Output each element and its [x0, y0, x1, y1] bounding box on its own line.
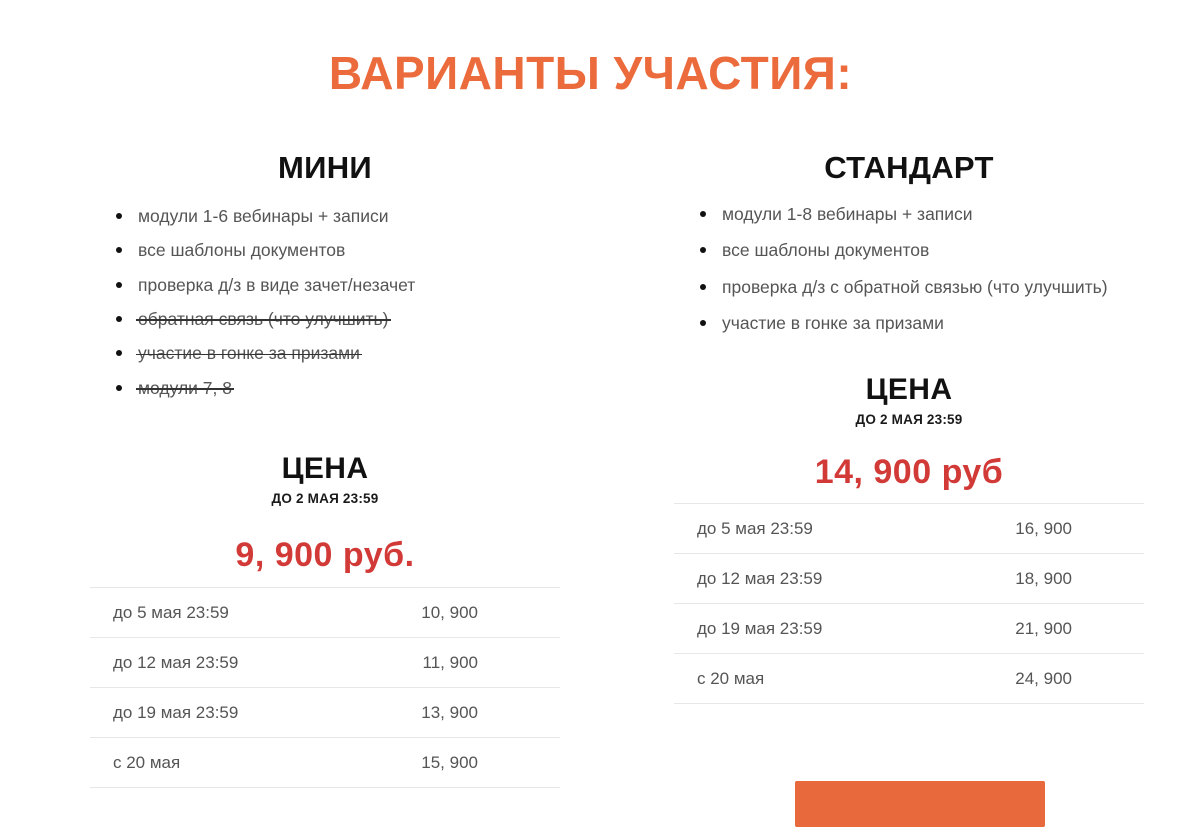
list-item: проверка д/з в виде зачет/незачет: [116, 271, 560, 305]
list-item-disabled: модули 7, 8: [116, 374, 560, 408]
list-item: проверка д/з с обратной связью (что улуч…: [700, 273, 1144, 309]
price-block-mini: ЦЕНА ДО 2 МАЯ 23:59 9, 900 руб.: [90, 452, 560, 575]
schedule-date: до 12 мая 23:59: [674, 554, 926, 604]
schedule-price: 16, 900: [926, 504, 1144, 554]
feature-label: модули 1-6 вебинары + записи: [138, 206, 389, 226]
table-row: с 20 мая 24, 900: [674, 654, 1144, 704]
plan-card-mini: МИНИ модули 1-6 вебинары + записи все ша…: [90, 150, 560, 788]
schedule-price: 15, 900: [333, 738, 560, 788]
feature-label: все шаблоны документов: [138, 240, 345, 260]
price-deadline: ДО 2 МАЯ 23:59: [674, 412, 1144, 427]
schedule-price: 13, 900: [333, 688, 560, 738]
feature-label: проверка д/з в виде зачет/незачет: [138, 275, 415, 295]
table-row: до 12 мая 23:59 18, 900: [674, 554, 1144, 604]
feature-label: модули 7, 8: [138, 378, 232, 398]
schedule-date: до 19 мая 23:59: [90, 688, 333, 738]
schedule-date: до 5 мая 23:59: [90, 588, 333, 638]
plan-title-mini: МИНИ: [90, 150, 560, 186]
list-item: модули 1-6 вебинары + записи: [116, 202, 560, 236]
table-row: до 5 мая 23:59 16, 900: [674, 504, 1144, 554]
feature-label: участие в гонке за призами: [722, 313, 944, 333]
schedule-price: 24, 900: [926, 654, 1144, 704]
list-item: все шаблоны документов: [700, 236, 1144, 272]
page-title: ВАРИАНТЫ УЧАСТИЯ:: [0, 47, 1181, 100]
price-value: 9, 900 руб.: [90, 536, 560, 575]
feature-label: участие в гонке за призами: [138, 343, 360, 363]
schedule-price: 10, 900: [333, 588, 560, 638]
list-item: участие в гонке за призами: [700, 309, 1144, 345]
table-row: до 12 мая 23:59 11, 900: [90, 638, 560, 688]
table-row: с 20 мая 15, 900: [90, 738, 560, 788]
feature-label: проверка д/з с обратной связью (что улуч…: [722, 277, 1108, 297]
table-row: до 19 мая 23:59 21, 900: [674, 604, 1144, 654]
schedule-date: с 20 мая: [90, 738, 333, 788]
plan-title-standard: СТАНДАРТ: [674, 150, 1144, 186]
price-schedule-standard: до 5 мая 23:59 16, 900 до 12 мая 23:59 1…: [674, 503, 1144, 704]
price-block-standard: ЦЕНА ДО 2 МАЯ 23:59 14, 900 руб: [674, 373, 1144, 492]
plan-card-standard: СТАНДАРТ модули 1-8 вебинары + записи вс…: [674, 150, 1144, 704]
feature-label: модули 1-8 вебинары + записи: [722, 204, 973, 224]
feature-label: все шаблоны документов: [722, 240, 929, 260]
schedule-price: 18, 900: [926, 554, 1144, 604]
feature-label: обратная связь (что улучшить): [138, 309, 389, 329]
list-item: все шаблоны документов: [116, 236, 560, 270]
schedule-date: с 20 мая: [674, 654, 926, 704]
list-item: модули 1-8 вебинары + записи: [700, 200, 1144, 236]
feature-list-standard: модули 1-8 вебинары + записи все шаблоны…: [674, 200, 1144, 345]
feature-list-mini: модули 1-6 вебинары + записи все шаблоны…: [90, 202, 560, 408]
price-caption: ЦЕНА: [90, 452, 560, 485]
cta-button-standard[interactable]: [795, 781, 1045, 827]
schedule-date: до 5 мая 23:59: [674, 504, 926, 554]
price-caption: ЦЕНА: [674, 373, 1144, 406]
schedule-date: до 12 мая 23:59: [90, 638, 333, 688]
price-value: 14, 900 руб: [674, 453, 1144, 492]
list-item-disabled: участие в гонке за призами: [116, 339, 560, 373]
table-row: до 5 мая 23:59 10, 900: [90, 588, 560, 638]
list-item-disabled: обратная связь (что улучшить): [116, 305, 560, 339]
price-deadline: ДО 2 МАЯ 23:59: [90, 491, 560, 506]
table-row: до 19 мая 23:59 13, 900: [90, 688, 560, 738]
schedule-price: 21, 900: [926, 604, 1144, 654]
price-schedule-mini: до 5 мая 23:59 10, 900 до 12 мая 23:59 1…: [90, 587, 560, 788]
schedule-price: 11, 900: [333, 638, 560, 688]
schedule-date: до 19 мая 23:59: [674, 604, 926, 654]
